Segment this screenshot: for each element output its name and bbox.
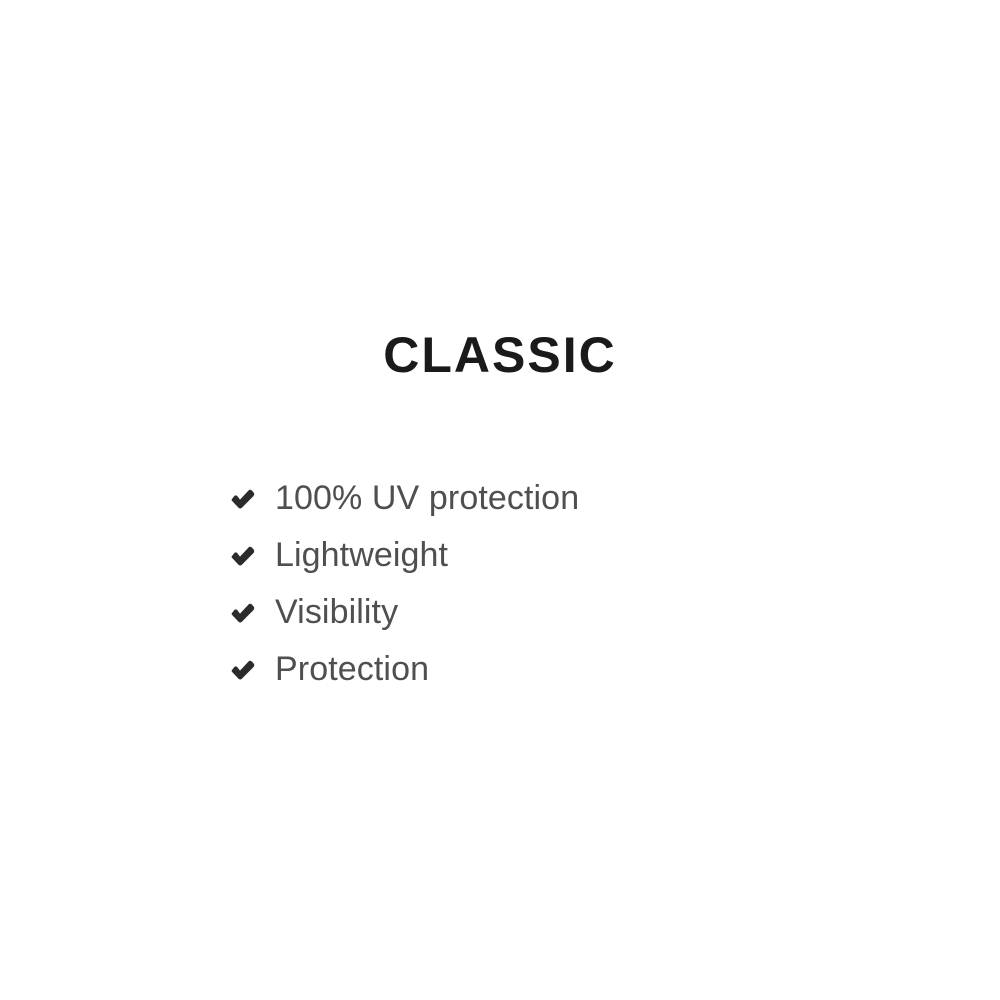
check-icon [230,641,275,680]
page-title: CLASSIC [0,330,1000,380]
feature-label: Visibility [275,584,398,641]
check-icon [230,527,275,566]
list-item: 100% UV protection [230,470,790,527]
check-icon [230,584,275,623]
feature-label: Protection [275,641,429,698]
feature-label: 100% UV protection [275,470,579,527]
list-item: Protection [230,641,790,698]
check-icon [230,470,275,509]
feature-label: Lightweight [275,527,448,584]
product-feature-card: CLASSIC 100% UV protection Lightweight [0,0,1000,1000]
list-item: Lightweight [230,527,790,584]
list-item: Visibility [230,584,790,641]
feature-list: 100% UV protection Lightweight Visibilit… [230,470,790,698]
